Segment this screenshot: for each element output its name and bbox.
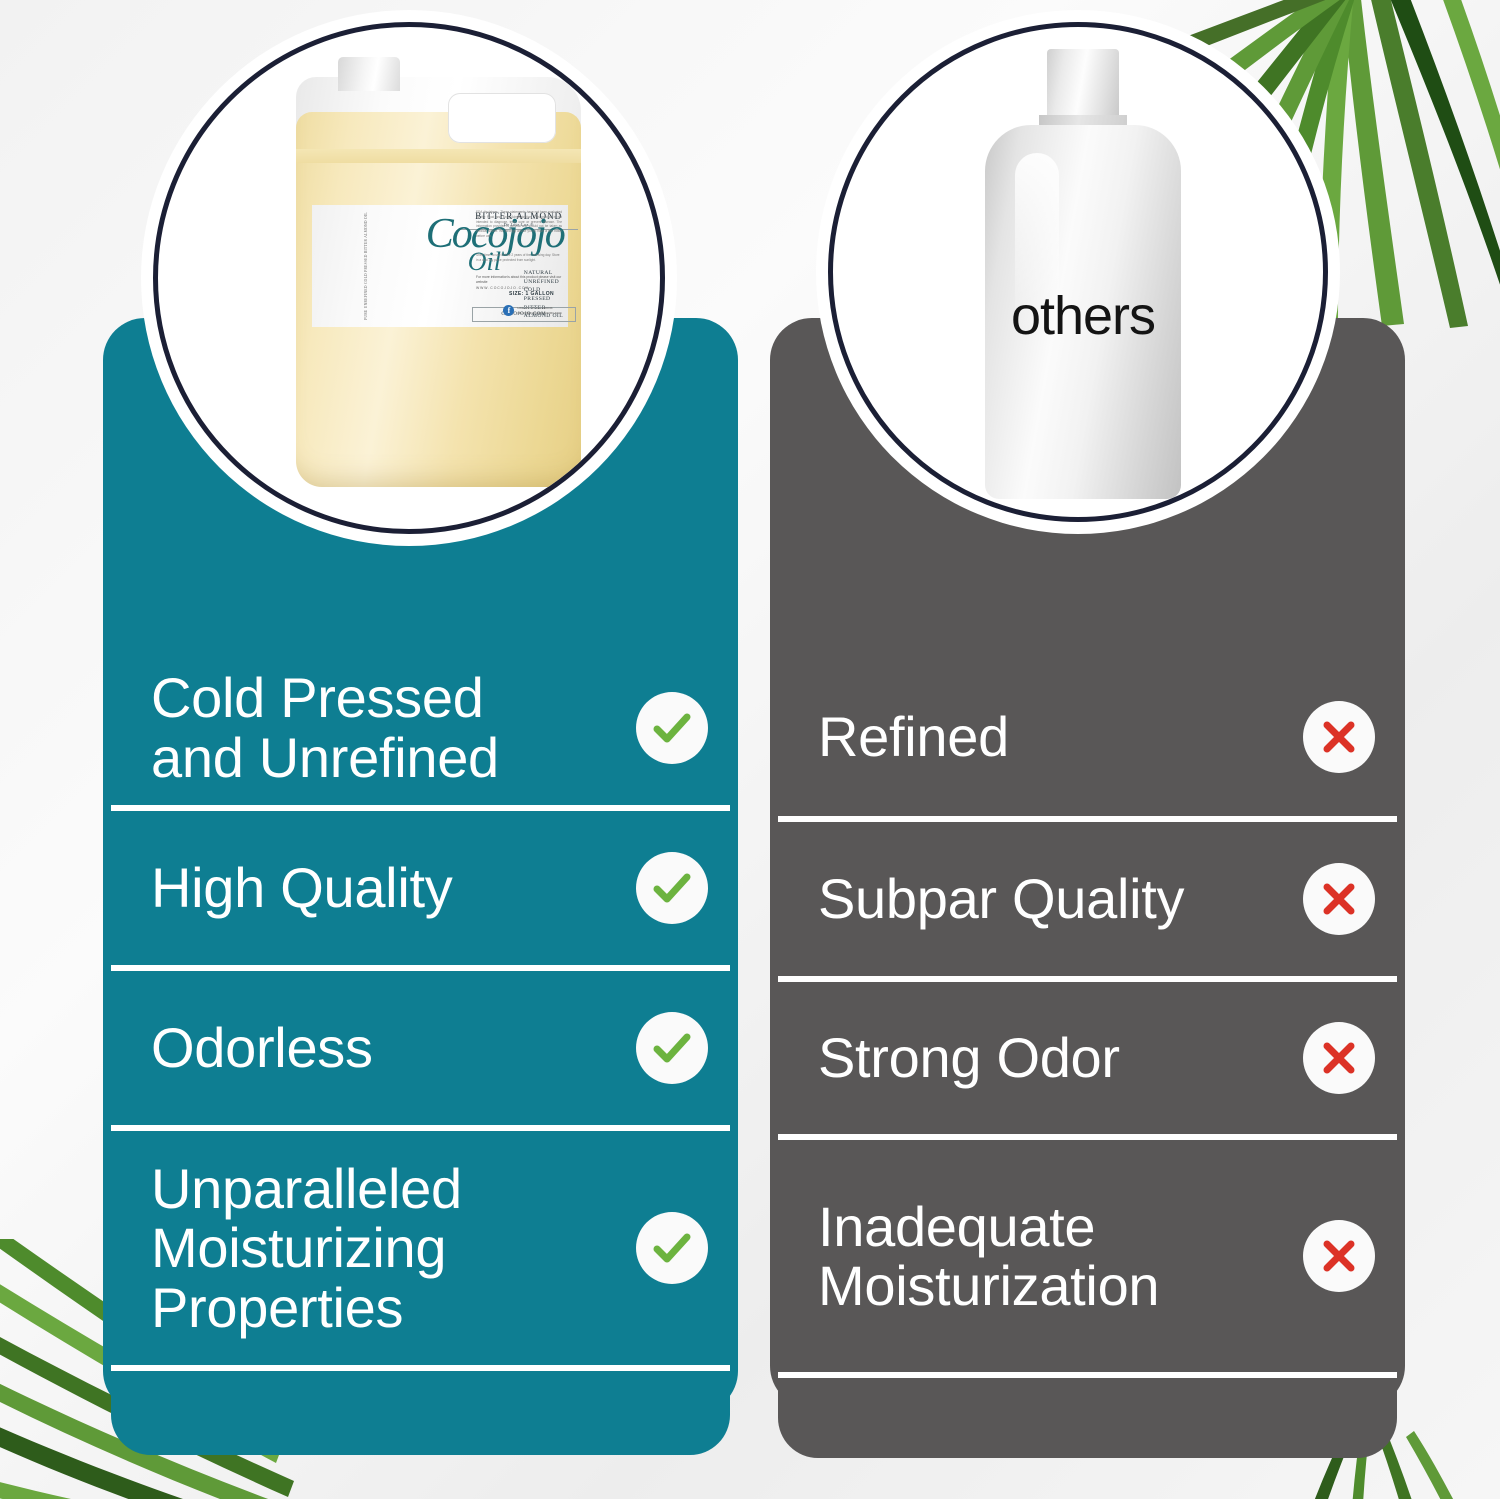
cocojojo-product-medallion: PURE UNREFINED COLD PRESSED BITTER ALMON… <box>153 22 665 534</box>
feature-row: Unparalleled Moisturizing Properties <box>111 1125 730 1365</box>
feature-label: Odorless <box>151 1018 373 1077</box>
check-icon <box>636 1012 708 1084</box>
others-bottle-label: others <box>985 285 1181 347</box>
facebook-icon: f <box>503 305 514 316</box>
cross-icon <box>1303 1022 1375 1094</box>
feature-label: Strong Odor <box>818 1028 1120 1087</box>
feature-row: Inadequate Moisturization <box>778 1134 1397 1372</box>
right-feature-rows: Refined Subpar Quality Strong Odor Inade… <box>778 658 1397 1458</box>
left-footer-strip <box>111 1365 730 1455</box>
feature-row: Subpar Quality <box>778 816 1397 976</box>
check-icon <box>636 692 708 764</box>
label-facebook-block: f LIKE US ON FACEBOOK FB.COM/COCOJOJOORG… <box>503 305 562 316</box>
right-footer-strip <box>778 1372 1397 1458</box>
others-product-medallion: others <box>828 22 1328 522</box>
feature-label: Cold Pressed and Unrefined <box>151 668 499 787</box>
left-feature-rows: Cold Pressed and Unrefined High Quality … <box>111 650 730 1455</box>
column-others: others Refined Subpar Quality Strong Odo… <box>770 0 1405 1499</box>
cocojojo-oil-jug-image: PURE UNREFINED COLD PRESSED BITTER ALMON… <box>296 57 581 487</box>
feature-label: Refined <box>818 707 1009 766</box>
feature-label: High Quality <box>151 858 452 917</box>
label-side-text: PURE UNREFINED COLD PRESSED BITTER ALMON… <box>364 212 368 320</box>
feature-label: Unparalleled Moisturizing Properties <box>151 1159 462 1337</box>
comparison-columns: PURE UNREFINED COLD PRESSED BITTER ALMON… <box>0 0 1500 1499</box>
label-facebook-text: LIKE US ON FACEBOOK FB.COM/COCOJOJOORGAN… <box>517 306 562 315</box>
column-cocojojo: PURE UNREFINED COLD PRESSED BITTER ALMON… <box>103 0 738 1499</box>
cross-icon <box>1303 701 1375 773</box>
check-icon <box>636 1212 708 1284</box>
feature-label: Inadequate Moisturization <box>818 1197 1159 1316</box>
cross-icon <box>1303 863 1375 935</box>
product-label: PURE UNREFINED COLD PRESSED BITTER ALMON… <box>312 205 568 327</box>
feature-row: Cold Pressed and Unrefined <box>111 650 730 805</box>
cross-icon <box>1303 1220 1375 1292</box>
feature-row: Strong Odor <box>778 976 1397 1134</box>
feature-row: Odorless <box>111 965 730 1125</box>
label-disclaimer: FDA disclaimer : These statements have n… <box>476 210 562 239</box>
label-side-text-strip: PURE UNREFINED COLD PRESSED BITTER ALMON… <box>312 205 420 327</box>
check-icon <box>636 852 708 924</box>
feature-row: Refined <box>778 658 1397 816</box>
label-website-line: For more information's about this produc… <box>476 275 562 291</box>
others-bottle-image: others <box>985 49 1181 499</box>
label-size-text: SIZE: 1 GALLON <box>509 291 554 297</box>
label-shelf-life: Shelf time: to use before 2 years of the… <box>476 253 562 263</box>
feature-row: High Quality <box>111 805 730 965</box>
feature-label: Subpar Quality <box>818 869 1184 928</box>
